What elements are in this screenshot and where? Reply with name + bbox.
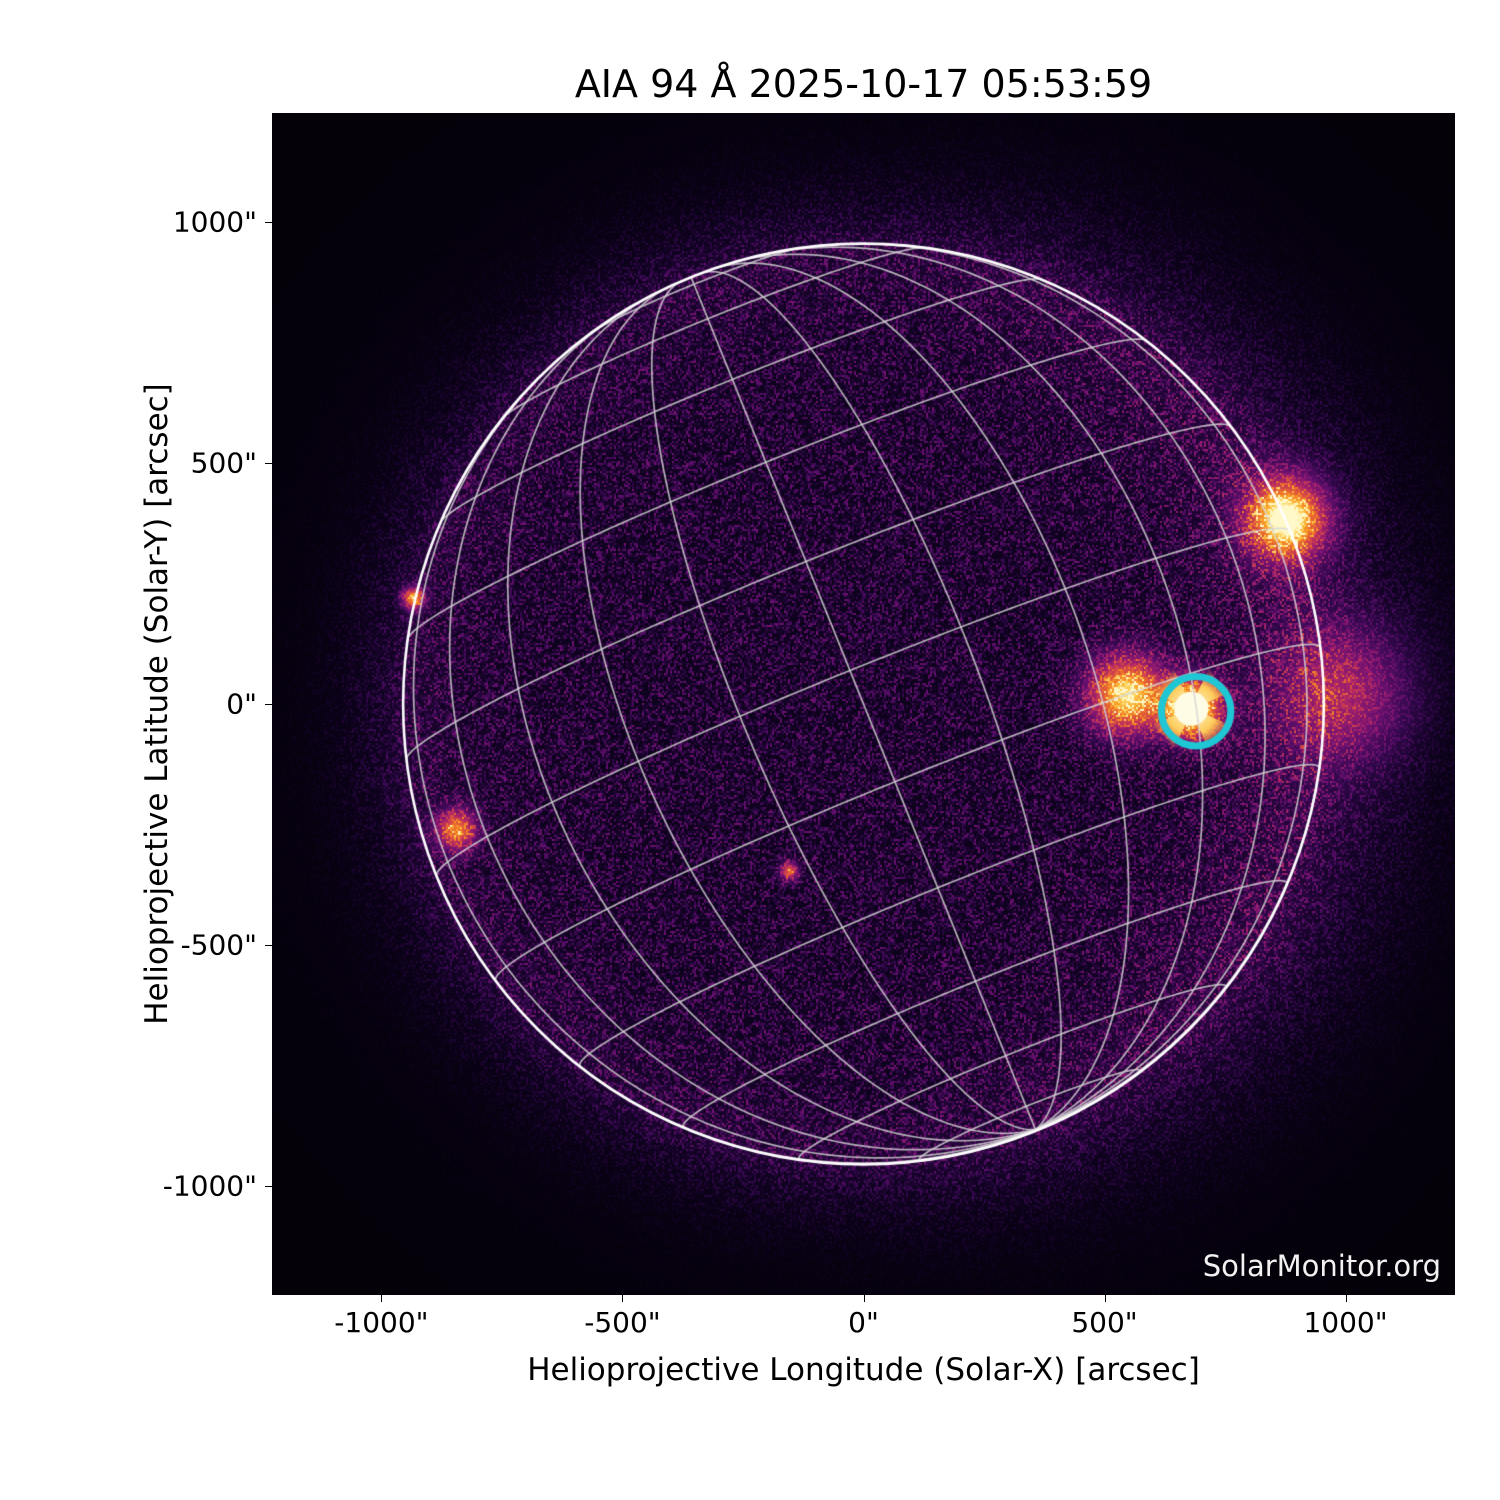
y-tick-label: 500" [191, 446, 257, 479]
x-axis-label: Helioprojective Longitude (Solar-X) [arc… [272, 1352, 1455, 1388]
solar-disk-image[interactable] [272, 113, 1455, 1295]
x-tick-mark [381, 1295, 382, 1302]
y-tick-label: 0" [226, 688, 257, 721]
watermark-label: SolarMonitor.org [1203, 1249, 1441, 1283]
x-tick-mark [1105, 1295, 1106, 1302]
solar-image-figure: AIA 94 Å 2025-10-17 05:53:59 SolarMonito… [0, 0, 1500, 1500]
x-tick-label: 0" [848, 1306, 879, 1339]
y-tick-label: -500" [181, 929, 257, 962]
page-title: AIA 94 Å 2025-10-17 05:53:59 [272, 62, 1455, 106]
y-tick-mark [265, 222, 272, 223]
x-tick-mark [864, 1295, 865, 1302]
y-tick-mark [265, 945, 272, 946]
x-tick-label: -1000" [334, 1306, 428, 1339]
y-tick-label: 1000" [173, 205, 257, 238]
x-tick-label: 500" [1071, 1306, 1137, 1339]
y-tick-mark [265, 704, 272, 705]
y-tick-mark [265, 1186, 272, 1187]
x-tick-label: 1000" [1303, 1306, 1387, 1339]
y-axis-label: Helioprojective Latitude (Solar-Y) [arcs… [137, 113, 177, 1295]
x-tick-mark [1346, 1295, 1347, 1302]
image-plot-area[interactable]: SolarMonitor.org [272, 113, 1455, 1295]
x-tick-mark [622, 1295, 623, 1302]
x-tick-label: -500" [584, 1306, 660, 1339]
y-tick-mark [265, 463, 272, 464]
